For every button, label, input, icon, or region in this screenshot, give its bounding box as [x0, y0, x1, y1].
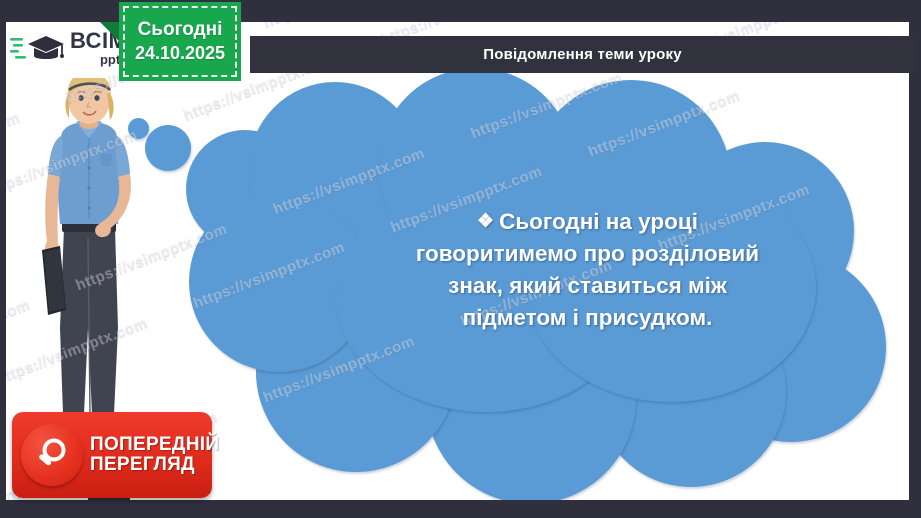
teacher-figure-icon — [14, 78, 162, 418]
slide-root: https://vsimpptx.com https://vsimpptx.co… — [0, 0, 921, 518]
teacher-illustration — [14, 78, 162, 418]
graduation-cap-icon — [10, 31, 66, 65]
preview-button-line2: ПЕРЕГЛЯД — [90, 455, 219, 475]
preview-button-line1: ПОПЕРЕДНІЙ — [90, 435, 219, 455]
magnifier-icon — [21, 424, 83, 486]
diamond-bullet-icon: ❖ — [477, 211, 494, 232]
date-badge-label: Сьогодні — [138, 20, 223, 41]
lesson-statement: ❖Сьогодні на уроці говоритимемо про розд… — [400, 206, 775, 334]
date-badge: Сьогодні 24.10.2025 — [119, 2, 241, 81]
lesson-statement-text: Сьогодні на уроці говоритимемо про розді… — [416, 209, 759, 330]
brand-logo: ВСІМ pptx — [10, 30, 127, 66]
lesson-topic-header: Повідомлення теми уроку — [250, 36, 915, 73]
preview-button[interactable]: ПОПЕРЕДНІЙ ПЕРЕГЛЯД — [12, 412, 212, 498]
date-badge-date: 24.10.2025 — [135, 44, 225, 64]
header-title: Повідомлення теми уроку — [483, 46, 682, 63]
